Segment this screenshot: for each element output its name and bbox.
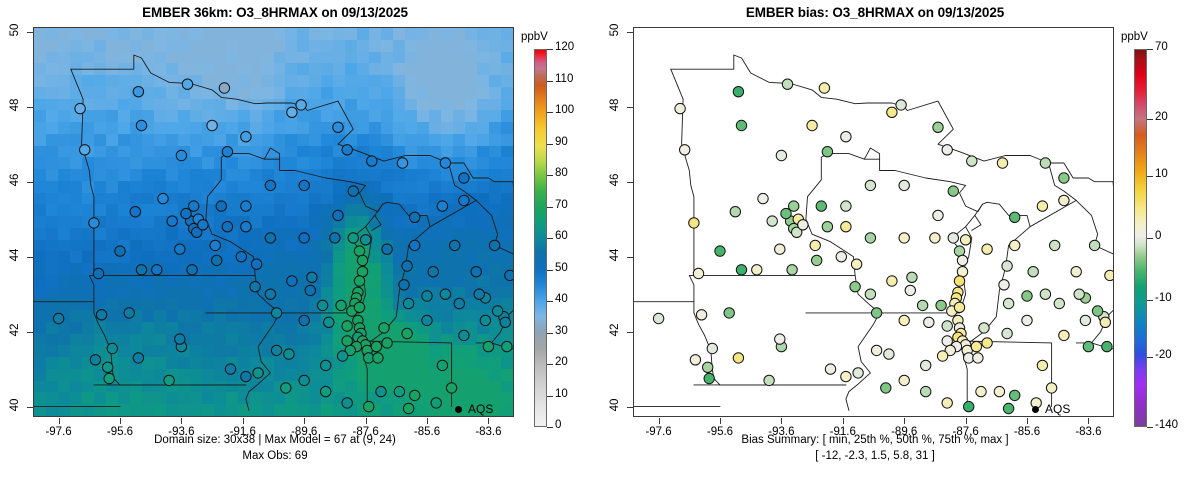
observation-point[interactable] <box>841 132 851 142</box>
observation-point[interactable] <box>933 210 943 220</box>
observation-point[interactable] <box>982 338 992 348</box>
raster-cell <box>142 157 154 169</box>
observation-point[interactable] <box>881 383 891 393</box>
observation-point[interactable] <box>951 293 961 303</box>
observation-point[interactable] <box>680 145 690 155</box>
observation-point[interactable] <box>810 240 820 250</box>
observation-point[interactable] <box>789 223 799 233</box>
observation-point[interactable] <box>689 218 699 228</box>
raster-cell <box>262 40 274 52</box>
observation-point[interactable] <box>792 227 802 237</box>
observation-point[interactable] <box>1050 240 1060 250</box>
observation-point[interactable] <box>960 340 970 350</box>
observation-point[interactable] <box>1100 317 1110 327</box>
observation-point[interactable] <box>1022 291 1032 301</box>
raster-cell <box>453 40 465 52</box>
x-axis-tick <box>966 418 967 424</box>
observation-point[interactable] <box>957 336 967 346</box>
raster-cell <box>190 369 202 381</box>
x-axis-tick <box>1088 418 1089 424</box>
observation-point[interactable] <box>736 265 746 275</box>
observation-point[interactable] <box>787 265 797 275</box>
raster-cell <box>465 75 477 87</box>
observation-point[interactable] <box>675 103 685 113</box>
raster-cell <box>477 169 489 181</box>
raster-cell <box>417 322 429 334</box>
colorbar-tick-label: 20 <box>1155 111 1168 123</box>
raster-cell <box>142 146 154 158</box>
raster-cell <box>417 40 429 52</box>
raster-cell <box>345 181 357 193</box>
observation-point[interactable] <box>947 306 957 316</box>
observation-point[interactable] <box>782 79 792 89</box>
observation-point[interactable] <box>1054 298 1064 308</box>
observation-point[interactable] <box>865 180 875 190</box>
raster-cell <box>501 404 513 416</box>
raster-cell <box>214 369 226 381</box>
observation-point[interactable] <box>724 308 734 318</box>
raster-cell <box>166 87 178 99</box>
observation-point[interactable] <box>956 328 966 338</box>
raster-cell <box>82 310 94 322</box>
observation-point[interactable] <box>793 214 803 224</box>
raster-cell <box>214 263 226 275</box>
observation-point[interactable] <box>690 355 700 365</box>
raster-cell <box>178 287 190 299</box>
raster-cell <box>333 357 345 369</box>
raster-cell <box>46 381 58 393</box>
raster-cell <box>417 134 429 146</box>
observation-point[interactable] <box>871 308 881 318</box>
observation-point[interactable] <box>1028 267 1038 277</box>
observation-point[interactable] <box>924 317 934 327</box>
raster-cell <box>309 146 321 158</box>
raster-cell <box>94 345 106 357</box>
raster-cell <box>154 134 166 146</box>
observation-point[interactable] <box>1046 383 1056 393</box>
observation-point[interactable] <box>841 222 851 232</box>
raster-cell <box>154 240 166 252</box>
observation-point[interactable] <box>775 334 785 344</box>
observation-point[interactable] <box>976 386 986 396</box>
raster-cell <box>82 251 94 263</box>
raster-cell <box>82 275 94 287</box>
observation-point[interactable] <box>822 147 832 157</box>
raster-cell <box>274 40 286 52</box>
observation-point[interactable] <box>767 216 777 226</box>
raster-cell <box>142 204 154 216</box>
x-axis-tick <box>659 418 660 424</box>
raster-cell <box>94 169 106 181</box>
observation-point[interactable] <box>994 386 1004 396</box>
y-axis-tick-label: 42 <box>609 321 621 339</box>
raster-cell <box>429 28 441 40</box>
observation-point[interactable] <box>707 343 717 353</box>
observation-point[interactable] <box>851 259 861 269</box>
observation-point[interactable] <box>999 280 1009 290</box>
observation-point[interactable] <box>957 267 967 277</box>
raster-cell <box>118 263 130 275</box>
observation-point[interactable] <box>736 120 746 130</box>
observation-point[interactable] <box>960 235 970 245</box>
raster-cell <box>250 322 262 334</box>
observation-point[interactable] <box>1092 306 1102 316</box>
observation-point[interactable] <box>1080 293 1090 303</box>
observation-point[interactable] <box>696 310 706 320</box>
raster-cell <box>166 40 178 52</box>
observation-point[interactable] <box>822 222 832 232</box>
observation-point[interactable] <box>954 323 964 333</box>
observation-point[interactable] <box>899 315 909 325</box>
boundary-line <box>694 313 720 385</box>
raster-cell <box>369 157 381 169</box>
raster-cell <box>130 28 142 40</box>
observation-point[interactable] <box>1002 328 1012 338</box>
raster-cell <box>226 146 238 158</box>
observation-point[interactable] <box>917 300 927 310</box>
observation-point[interactable] <box>899 180 909 190</box>
observation-point[interactable] <box>948 186 958 196</box>
observation-point[interactable] <box>957 255 967 265</box>
observation-point[interactable] <box>850 282 860 292</box>
boundary-line <box>1092 182 1114 351</box>
y-axis-tick <box>627 407 633 408</box>
raster-cell <box>321 345 333 357</box>
observation-point[interactable] <box>871 345 881 355</box>
raster-cell <box>238 310 250 322</box>
observation-point[interactable] <box>982 244 992 254</box>
raster-cell <box>142 40 154 52</box>
raster-cell <box>345 345 357 357</box>
raster-cell <box>118 52 130 64</box>
raster-cell <box>262 345 274 357</box>
raster-cell <box>285 334 297 346</box>
observation-point[interactable] <box>942 321 952 331</box>
observation-point[interactable] <box>1040 289 1050 299</box>
raster-cell <box>178 357 190 369</box>
observation-point[interactable] <box>971 341 981 351</box>
observation-point[interactable] <box>1003 403 1013 413</box>
observation-point[interactable] <box>715 246 725 256</box>
observation-point[interactable] <box>942 145 952 155</box>
raster-cell <box>214 251 226 263</box>
raster-cell <box>453 334 465 346</box>
observation-point[interactable] <box>1010 390 1020 400</box>
observation-point[interactable] <box>899 233 909 243</box>
observation-point[interactable] <box>1022 315 1032 325</box>
raster-cell <box>94 193 106 205</box>
raster-cell <box>429 369 441 381</box>
observation-point[interactable] <box>954 276 964 286</box>
raster-cell <box>106 404 118 416</box>
observation-point[interactable] <box>1040 158 1050 168</box>
observation-point[interactable] <box>905 285 915 295</box>
raster-cell <box>333 228 345 240</box>
raster-cell <box>70 322 82 334</box>
raster-cell <box>190 381 202 393</box>
raster-cell <box>214 381 226 393</box>
raster-cell <box>417 181 429 193</box>
raster-cell <box>178 216 190 228</box>
raster-cell <box>154 287 166 299</box>
raster-cell <box>453 345 465 357</box>
raster-cell <box>46 404 58 416</box>
observation-point[interactable] <box>942 398 952 408</box>
model-raster-grid <box>34 28 513 416</box>
observation-point[interactable] <box>812 255 822 265</box>
observation-point[interactable] <box>964 353 974 363</box>
raster-cell <box>501 87 513 99</box>
observation-point[interactable] <box>781 208 791 218</box>
observation-point[interactable] <box>733 353 743 363</box>
observation-point[interactable] <box>953 332 963 342</box>
observation-point[interactable] <box>954 302 964 312</box>
observation-point[interactable] <box>704 373 714 383</box>
observation-point[interactable] <box>752 265 762 275</box>
raster-cell <box>345 369 357 381</box>
raster-cell <box>357 169 369 181</box>
raster-cell <box>94 157 106 169</box>
observation-point[interactable] <box>907 272 917 282</box>
observation-point[interactable] <box>921 360 931 370</box>
observation-point[interactable] <box>764 375 774 385</box>
observation-point[interactable] <box>1059 195 1069 205</box>
observation-point[interactable] <box>1010 240 1020 250</box>
observation-point[interactable] <box>1099 312 1109 322</box>
observation-point[interactable] <box>945 345 955 355</box>
raster-cell <box>309 28 321 40</box>
raster-cell <box>417 28 429 40</box>
model-plot-area[interactable] <box>34 28 513 416</box>
observation-point[interactable] <box>733 87 743 97</box>
observation-point[interactable] <box>962 345 972 355</box>
raster-cell <box>82 298 94 310</box>
observation-point[interactable] <box>853 368 863 378</box>
y-axis-tick-label: 46 <box>609 171 621 189</box>
raster-cell <box>285 110 297 122</box>
observation-point[interactable] <box>997 158 1007 168</box>
raster-cell <box>309 122 321 134</box>
raster-cell <box>453 122 465 134</box>
observation-point[interactable] <box>967 156 977 166</box>
observation-point[interactable] <box>1002 261 1012 271</box>
raster-cell <box>453 240 465 252</box>
raster-cell <box>118 87 130 99</box>
observation-point[interactable] <box>899 375 909 385</box>
bias-plot-area[interactable] <box>634 28 1113 416</box>
observation-point[interactable] <box>973 353 983 363</box>
boundary-line <box>1049 163 1077 200</box>
raster-cell <box>190 240 202 252</box>
raster-cell <box>501 122 513 134</box>
raster-cell <box>405 169 417 181</box>
raster-cell <box>202 169 214 181</box>
raster-cell <box>309 369 321 381</box>
raster-cell <box>58 275 70 287</box>
observation-point[interactable] <box>1059 173 1069 183</box>
raster-cell <box>250 287 262 299</box>
raster-cell <box>333 134 345 146</box>
observation-point[interactable] <box>841 201 851 211</box>
raster-cell <box>429 157 441 169</box>
observation-point[interactable] <box>693 268 703 278</box>
observation-point[interactable] <box>776 150 786 160</box>
raster-cell <box>381 75 393 87</box>
raster-cell <box>441 110 453 122</box>
raster-cell <box>130 298 142 310</box>
raster-cell <box>106 52 118 64</box>
observation-point[interactable] <box>785 216 795 226</box>
raster-cell <box>274 381 286 393</box>
observation-point[interactable] <box>1089 240 1099 250</box>
raster-cell <box>477 110 489 122</box>
observation-point[interactable] <box>653 313 663 323</box>
raster-cell <box>357 122 369 134</box>
observation-point[interactable] <box>936 300 946 310</box>
observation-point[interactable] <box>703 362 713 372</box>
raster-cell <box>178 146 190 158</box>
raster-cell <box>142 251 154 263</box>
raster-cell <box>309 134 321 146</box>
observation-point[interactable] <box>1037 360 1047 370</box>
raster-cell <box>250 216 262 228</box>
observation-point[interactable] <box>950 298 960 308</box>
observation-point[interactable] <box>776 341 786 351</box>
colorbar-tick-label: 80 <box>555 167 568 179</box>
raster-cell <box>321 275 333 287</box>
bias-observation-points[interactable] <box>634 28 1113 416</box>
observation-point[interactable] <box>1083 341 1093 351</box>
raster-cell <box>345 40 357 52</box>
raster-cell <box>190 310 202 322</box>
raster-cell <box>238 181 250 193</box>
observation-point[interactable] <box>921 386 931 396</box>
observation-point[interactable] <box>1071 267 1081 277</box>
raster-cell <box>477 322 489 334</box>
observation-point[interactable] <box>775 244 785 254</box>
raster-cell <box>381 251 393 263</box>
observation-point[interactable] <box>979 323 989 333</box>
observation-point[interactable] <box>887 276 897 286</box>
raster-cell <box>345 134 357 146</box>
raster-cell <box>429 404 441 416</box>
observation-point[interactable] <box>816 201 826 211</box>
observation-point[interactable] <box>1105 270 1113 280</box>
observation-point[interactable] <box>1080 315 1090 325</box>
observation-point[interactable] <box>1074 289 1084 299</box>
raster-cell <box>94 381 106 393</box>
raster-cell <box>190 63 202 75</box>
observation-point[interactable] <box>841 371 851 381</box>
observation-point[interactable] <box>819 83 829 93</box>
raster-cell <box>369 287 381 299</box>
observation-point[interactable] <box>865 289 875 299</box>
observation-point[interactable] <box>964 401 974 411</box>
raster-cell <box>381 87 393 99</box>
observation-point[interactable] <box>1059 330 1069 340</box>
observation-point[interactable] <box>730 207 740 217</box>
raster-cell <box>405 392 417 404</box>
observation-point[interactable] <box>887 107 897 117</box>
raster-cell <box>214 99 226 111</box>
raster-cell <box>274 157 286 169</box>
raster-cell <box>357 228 369 240</box>
raster-cell <box>453 287 465 299</box>
observation-point[interactable] <box>1003 298 1013 308</box>
raster-cell <box>297 322 309 334</box>
raster-cell <box>501 181 513 193</box>
raster-cell <box>58 392 70 404</box>
raster-cell <box>489 204 501 216</box>
raster-cell <box>477 99 489 111</box>
raster-cell <box>118 240 130 252</box>
raster-cell <box>441 228 453 240</box>
raster-cell <box>262 369 274 381</box>
model-caption-line1: Domain size: 30x38 | Max Model = 67 at (… <box>5 434 545 446</box>
observation-point[interactable] <box>953 315 963 325</box>
observation-point[interactable] <box>798 220 808 230</box>
raster-cell <box>190 99 202 111</box>
raster-cell <box>501 99 513 111</box>
raster-cell <box>285 87 297 99</box>
observation-point[interactable] <box>954 246 964 256</box>
raster-cell <box>465 228 477 240</box>
observation-point[interactable] <box>758 193 768 203</box>
raster-cell <box>178 110 190 122</box>
raster-cell <box>489 228 501 240</box>
raster-cell <box>393 63 405 75</box>
raster-cell <box>489 369 501 381</box>
raster-cell <box>441 322 453 334</box>
observation-point[interactable] <box>807 120 817 130</box>
observation-point[interactable] <box>896 100 906 110</box>
raster-cell <box>477 251 489 263</box>
raster-cell <box>214 334 226 346</box>
observation-point[interactable] <box>930 233 940 243</box>
observation-point[interactable] <box>825 364 835 374</box>
raster-cell <box>369 357 381 369</box>
observation-point[interactable] <box>1102 341 1112 351</box>
raster-cell <box>154 28 166 40</box>
raster-cell <box>321 204 333 216</box>
observation-point[interactable] <box>953 287 963 297</box>
observation-point[interactable] <box>951 341 961 351</box>
raster-cell <box>453 63 465 75</box>
raster-cell <box>106 63 118 75</box>
observation-point[interactable] <box>884 349 894 359</box>
raster-cell <box>345 357 357 369</box>
raster-cell <box>489 275 501 287</box>
observation-point[interactable] <box>1010 212 1020 222</box>
observation-point[interactable] <box>937 351 947 361</box>
raster-cell <box>357 110 369 122</box>
raster-cell <box>58 263 70 275</box>
raster-cell <box>429 146 441 158</box>
raster-cell <box>82 63 94 75</box>
observation-point[interactable] <box>865 233 875 243</box>
raster-cell <box>262 334 274 346</box>
observation-point[interactable] <box>1037 201 1047 211</box>
raster-cell <box>297 298 309 310</box>
raster-cell <box>369 228 381 240</box>
observation-point[interactable] <box>948 233 958 243</box>
raster-cell <box>501 334 513 346</box>
observation-point[interactable] <box>789 201 799 211</box>
raster-cell <box>94 404 106 416</box>
observation-point[interactable] <box>933 122 943 132</box>
observation-point[interactable] <box>836 252 846 262</box>
observation-point[interactable] <box>942 336 952 346</box>
